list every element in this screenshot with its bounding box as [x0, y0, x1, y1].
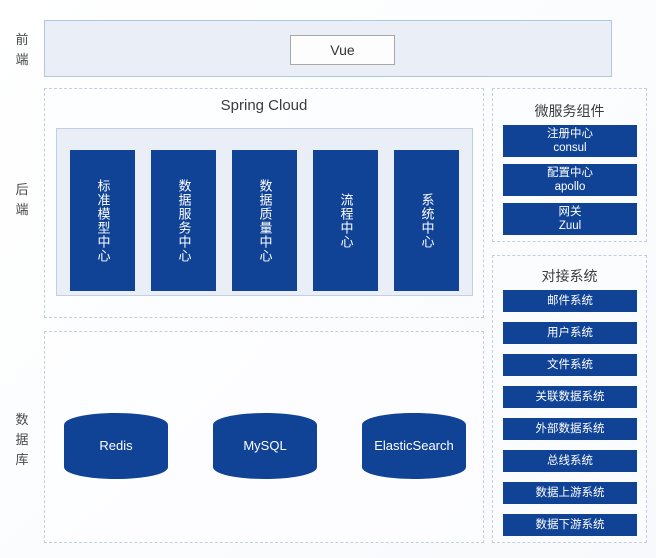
database-cylinder-label: ElasticSearch	[362, 438, 466, 453]
microservice-chip-name: 网关	[559, 205, 582, 219]
row-label-database: 数 据 库	[2, 410, 42, 470]
connected-system-chip-bus[interactable]: 总线系统	[503, 450, 637, 472]
connected-system-chip-label: 文件系统	[547, 358, 593, 372]
service-box-process-center[interactable]: 流程中心	[313, 150, 378, 291]
connected-system-chip-label: 关联数据系统	[536, 390, 605, 404]
connected-system-chip-downstream-data[interactable]: 数据下游系统	[503, 514, 637, 536]
connected-system-chip-user[interactable]: 用户系统	[503, 322, 637, 344]
service-box-label: 数据服务中心	[176, 179, 192, 263]
row-label-frontend: 前 端	[2, 30, 42, 70]
connected-system-chip-label: 外部数据系统	[536, 422, 605, 436]
connected-system-chip-file[interactable]: 文件系统	[503, 354, 637, 376]
microservice-components-title: 微服务组件	[493, 101, 646, 121]
microservice-chip-name: 注册中心	[547, 127, 593, 141]
service-box-label: 数据质量中心	[257, 179, 273, 263]
service-box-label: 流程中心	[338, 193, 354, 249]
connected-system-chip-label: 总线系统	[547, 454, 593, 468]
microservice-chip-sub: apollo	[555, 180, 586, 194]
microservice-chip-sub: Zuul	[559, 219, 581, 233]
connected-systems-title: 对接系统	[493, 266, 646, 286]
service-box-data-quality-center[interactable]: 数据质量中心	[232, 150, 297, 291]
database-cylinder-label: Redis	[64, 438, 168, 453]
springcloud-title: Spring Cloud	[44, 97, 484, 114]
service-box-data-service-center[interactable]: 数据服务中心	[151, 150, 216, 291]
row-label-backend: 后 端	[2, 180, 42, 220]
microservice-chip-gateway[interactable]: 网关 Zuul	[503, 203, 637, 235]
database-cylinder-label: MySQL	[213, 438, 317, 453]
database-cylinder-redis[interactable]: Redis	[64, 413, 168, 479]
connected-systems-panel: 对接系统 邮件系统 用户系统 文件系统 关联数据系统 外部数据系统 总线系统 数…	[492, 255, 647, 543]
connected-system-chip-upstream-data[interactable]: 数据上游系统	[503, 482, 637, 504]
microservice-chip-config[interactable]: 配置中心 apollo	[503, 164, 637, 196]
frontend-node-vue-label: Vue	[330, 42, 354, 58]
microservice-chip-registry[interactable]: 注册中心 consul	[503, 125, 637, 157]
microservice-chip-sub: consul	[553, 141, 586, 155]
service-box-label: 系统中心	[419, 193, 435, 249]
service-box-system-center[interactable]: 系统中心	[394, 150, 459, 291]
microservice-chip-name: 配置中心	[547, 166, 593, 180]
connected-system-chip-related-data[interactable]: 关联数据系统	[503, 386, 637, 408]
database-cylinder-elasticsearch[interactable]: ElasticSearch	[362, 413, 466, 479]
connected-system-chip-label: 用户系统	[547, 326, 593, 340]
connected-system-chip-mail[interactable]: 邮件系统	[503, 290, 637, 312]
connected-system-chip-label: 邮件系统	[547, 294, 593, 308]
microservice-components-panel: 微服务组件 注册中心 consul 配置中心 apollo 网关 Zuul	[492, 88, 647, 242]
architecture-diagram: 前 端 后 端 数 据 库 Vue Spring Cloud 标准模型中心 数据…	[0, 0, 656, 558]
connected-system-chip-label: 数据上游系统	[536, 486, 605, 500]
connected-system-chip-external-data[interactable]: 外部数据系统	[503, 418, 637, 440]
connected-system-chip-label: 数据下游系统	[536, 518, 605, 532]
database-cylinder-mysql[interactable]: MySQL	[213, 413, 317, 479]
service-box-label: 标准模型中心	[95, 179, 111, 263]
service-box-standard-model-center[interactable]: 标准模型中心	[70, 150, 135, 291]
frontend-node-vue[interactable]: Vue	[290, 35, 395, 65]
